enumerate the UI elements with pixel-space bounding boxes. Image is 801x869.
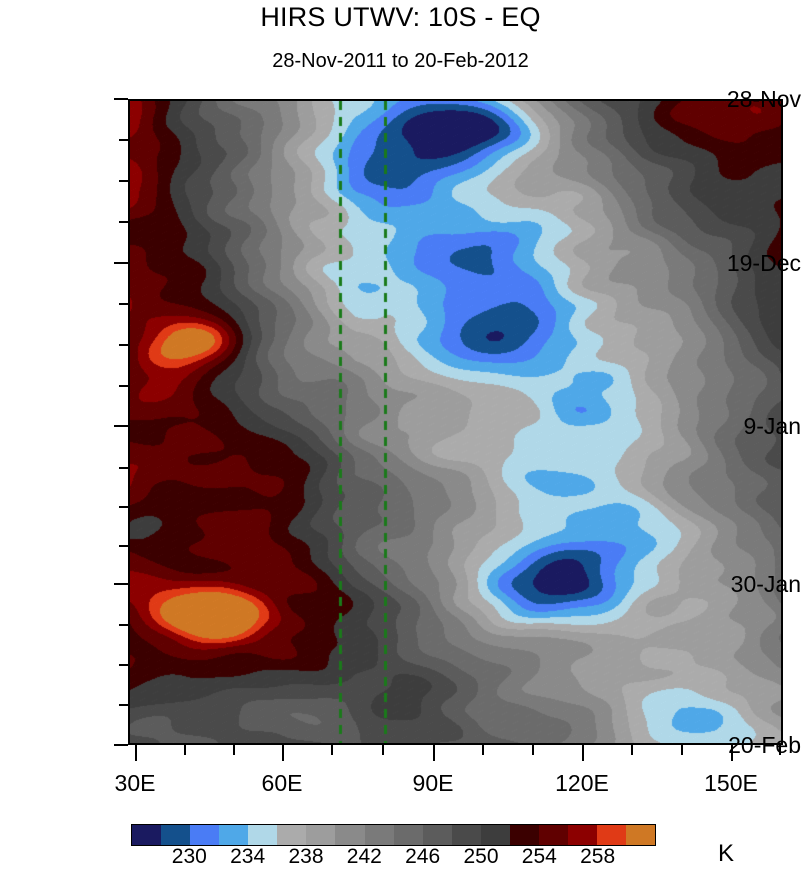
- colorbar-tick-label: 246: [405, 845, 440, 869]
- colorbar: [131, 824, 656, 846]
- x-tick-minor: [382, 745, 384, 755]
- y-tick-minor: [119, 545, 128, 547]
- colorbar-swatch: [219, 825, 248, 845]
- y-tick-minor: [119, 344, 128, 346]
- y-tick-minor: [119, 303, 128, 305]
- y-tick-major: [114, 744, 128, 746]
- y-tick-minor: [119, 664, 128, 666]
- hovmoller-plot-area: [128, 99, 783, 745]
- x-axis-label: 150E: [704, 770, 758, 797]
- x-axis-label: 30E: [115, 770, 156, 797]
- colorbar-swatch: [394, 825, 423, 845]
- y-axis-label: 28-Nov: [689, 86, 801, 113]
- x-tick-minor: [631, 745, 633, 755]
- colorbar-swatch: [568, 825, 597, 845]
- x-tick-minor: [482, 745, 484, 755]
- y-tick-major: [114, 262, 128, 264]
- colorbar-swatch: [365, 825, 394, 845]
- colorbar-swatch: [248, 825, 277, 845]
- y-axis-label: 30-Jan: [689, 571, 801, 598]
- y-axis-label: 9-Jan: [689, 413, 801, 440]
- colorbar-tick-label: 238: [288, 845, 323, 869]
- y-tick-major: [114, 583, 128, 585]
- x-axis-label: 60E: [262, 770, 303, 797]
- x-tick-minor: [331, 745, 333, 755]
- colorbar-swatch: [306, 825, 335, 845]
- y-tick-minor: [119, 467, 128, 469]
- x-tick-major: [135, 745, 137, 761]
- x-tick-minor: [779, 745, 781, 755]
- y-tick-minor: [119, 704, 128, 706]
- colorbar-tick-label: 250: [463, 845, 498, 869]
- x-tick-minor: [233, 745, 235, 755]
- x-tick-minor: [681, 745, 683, 755]
- chart-subtitle: 28-Nov-2011 to 20-Feb-2012: [0, 50, 801, 73]
- colorbar-swatch: [510, 825, 539, 845]
- colorbar-unit-label: K: [718, 840, 734, 868]
- colorbar-swatch: [481, 825, 510, 845]
- colorbar-swatch: [423, 825, 452, 845]
- colorbar-swatch: [597, 825, 626, 845]
- y-tick-minor: [119, 221, 128, 223]
- y-tick-minor: [119, 624, 128, 626]
- colorbar-tick-label: 258: [580, 845, 615, 869]
- colorbar-tick-label: 242: [347, 845, 382, 869]
- x-axis-label: 120E: [555, 770, 609, 797]
- y-tick-minor: [119, 385, 128, 387]
- x-tick-minor: [532, 745, 534, 755]
- contour-field: [130, 101, 781, 743]
- colorbar-swatch: [539, 825, 568, 845]
- colorbar-tick-label: 234: [230, 845, 265, 869]
- colorbar-tick-label: 254: [522, 845, 557, 869]
- y-tick-minor: [119, 506, 128, 508]
- y-tick-major: [114, 98, 128, 100]
- chart-title: HIRS UTWV: 10S - EQ: [0, 2, 801, 33]
- colorbar-swatch: [335, 825, 364, 845]
- x-tick-major: [731, 745, 733, 761]
- y-tick-minor: [119, 180, 128, 182]
- colorbar-swatch: [626, 825, 655, 845]
- y-tick-major: [114, 425, 128, 427]
- colorbar-swatch: [190, 825, 219, 845]
- colorbar-tick-label: 230: [172, 845, 207, 869]
- colorbar-swatch: [132, 825, 161, 845]
- colorbar-swatch: [277, 825, 306, 845]
- y-axis-label: 20-Feb: [689, 732, 801, 759]
- x-tick-major: [282, 745, 284, 761]
- x-tick-major: [582, 745, 584, 761]
- x-axis-label: 90E: [413, 770, 454, 797]
- x-tick-minor: [184, 745, 186, 755]
- y-tick-minor: [119, 139, 128, 141]
- x-tick-major: [433, 745, 435, 761]
- y-axis-label: 19-Dec: [689, 250, 801, 277]
- colorbar-swatch: [452, 825, 481, 845]
- colorbar-swatch: [161, 825, 190, 845]
